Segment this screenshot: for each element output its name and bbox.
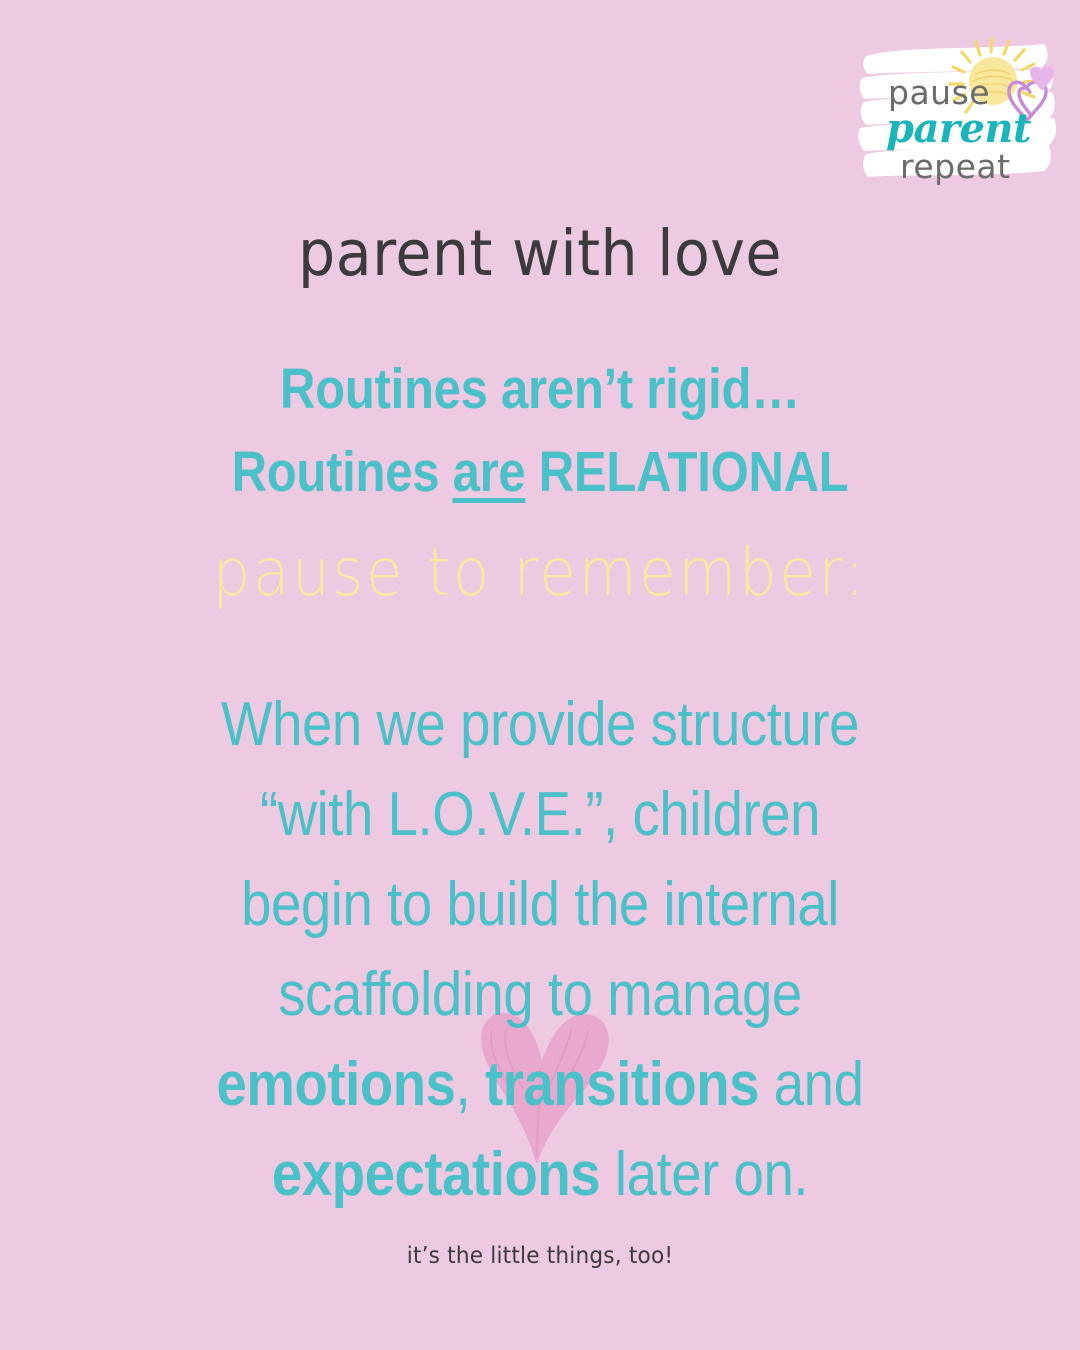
pause-to-remember-heading: pause to remember: bbox=[54, 540, 1026, 606]
body-copy-text: When we provide structure bbox=[221, 690, 859, 759]
subtitle-line-2-post: RELATIONAL bbox=[525, 440, 848, 504]
body-copy: When we provide structure“with L.O.V.E.”… bbox=[65, 680, 1015, 1220]
subtitle-line-2-emphasis: are bbox=[453, 440, 526, 504]
body-copy-text: and bbox=[759, 1050, 863, 1119]
poster-canvas: pause parent repeat parent with love Rou… bbox=[0, 0, 1080, 1350]
subtitle-line-1: Routines aren’t rigid… bbox=[76, 348, 1005, 431]
body-copy-text: later on. bbox=[600, 1140, 808, 1209]
logo-line-3: repeat bbox=[900, 147, 1011, 186]
page-title: parent with love bbox=[38, 222, 1042, 286]
logo-line-2: parent bbox=[886, 105, 1032, 152]
body-copy-line: emotions, transitions and bbox=[65, 1040, 1015, 1130]
body-copy-text: begin to build the internal bbox=[241, 870, 839, 939]
body-copy-emphasis: emotions bbox=[217, 1050, 456, 1119]
body-copy-line: When we provide structure bbox=[65, 680, 1015, 770]
body-copy-emphasis: transitions bbox=[485, 1050, 759, 1119]
body-copy-line: scaffolding to manage bbox=[65, 950, 1015, 1040]
body-copy-line: expectations later on. bbox=[65, 1130, 1015, 1220]
body-copy-line: “with L.O.V.E.”, children bbox=[65, 770, 1015, 860]
subtitle-line-2-pre: Routines bbox=[232, 440, 453, 504]
body-copy-line: begin to build the internal bbox=[65, 860, 1015, 950]
footer-tagline: it’s the little things, too! bbox=[32, 1243, 1047, 1269]
body-copy-text: , bbox=[456, 1050, 485, 1119]
body-copy-text: scaffolding to manage bbox=[278, 960, 802, 1029]
body-copy-emphasis: expectations bbox=[272, 1140, 600, 1209]
body-copy-text: “with L.O.V.E.”, children bbox=[260, 780, 820, 849]
subtitle-block: Routines aren’t rigid… Routines are RELA… bbox=[76, 348, 1005, 513]
pause-parent-repeat-logo[interactable]: pause parent repeat bbox=[858, 30, 1058, 188]
subtitle-line-2: Routines are RELATIONAL bbox=[76, 431, 1005, 514]
